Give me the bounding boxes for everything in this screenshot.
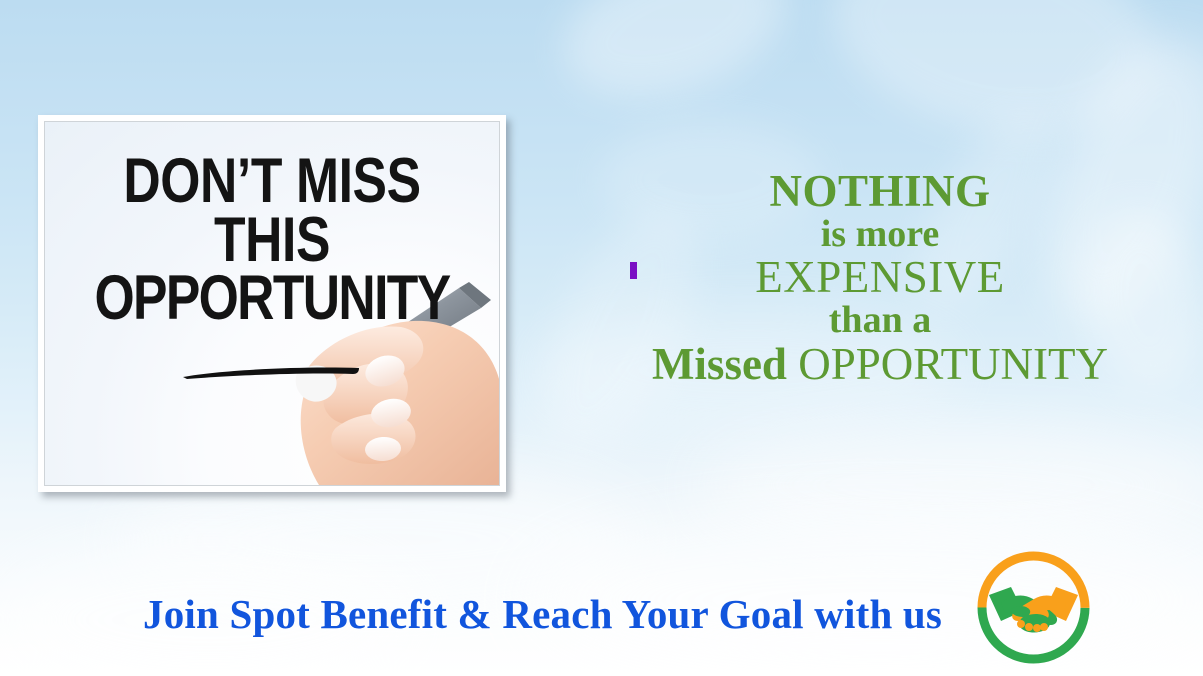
handshake-logo[interactable] (977, 551, 1090, 664)
underline-stroke (181, 366, 361, 379)
quote-word-opportunity: OPPORTUNITY (787, 339, 1108, 389)
handshake-logo-icon (977, 551, 1090, 664)
photo-headline-line-3: OPPORTUNITY (86, 269, 458, 328)
quote-line-missed-opportunity: Missed OPPORTUNITY (628, 341, 1132, 388)
slide-canvas: DON’T MISS THIS OPPORTUNITY (0, 0, 1203, 676)
photo-card[interactable]: DON’T MISS THIS OPPORTUNITY (38, 115, 506, 492)
quote-line-expensive: EXPENSIVE (628, 254, 1132, 301)
photo-inner-frame: DON’T MISS THIS OPPORTUNITY (44, 121, 500, 486)
tagline-text: Join Spot Benefit & Reach Your Goal with… (143, 590, 942, 638)
quote-line-nothing: NOTHING (628, 168, 1132, 215)
photo-headline-line-2: THIS (86, 211, 458, 270)
quote-line-is-more: is more (628, 215, 1132, 255)
photo-headline-line-1: DON’T MISS (86, 152, 458, 211)
quote-word-missed: Missed (652, 339, 787, 389)
quote-block: NOTHING is more EXPENSIVE than a Missed … (628, 168, 1132, 387)
quote-line-than-a: than a (628, 301, 1132, 341)
photo-headline: DON’T MISS THIS OPPORTUNITY (86, 152, 458, 328)
